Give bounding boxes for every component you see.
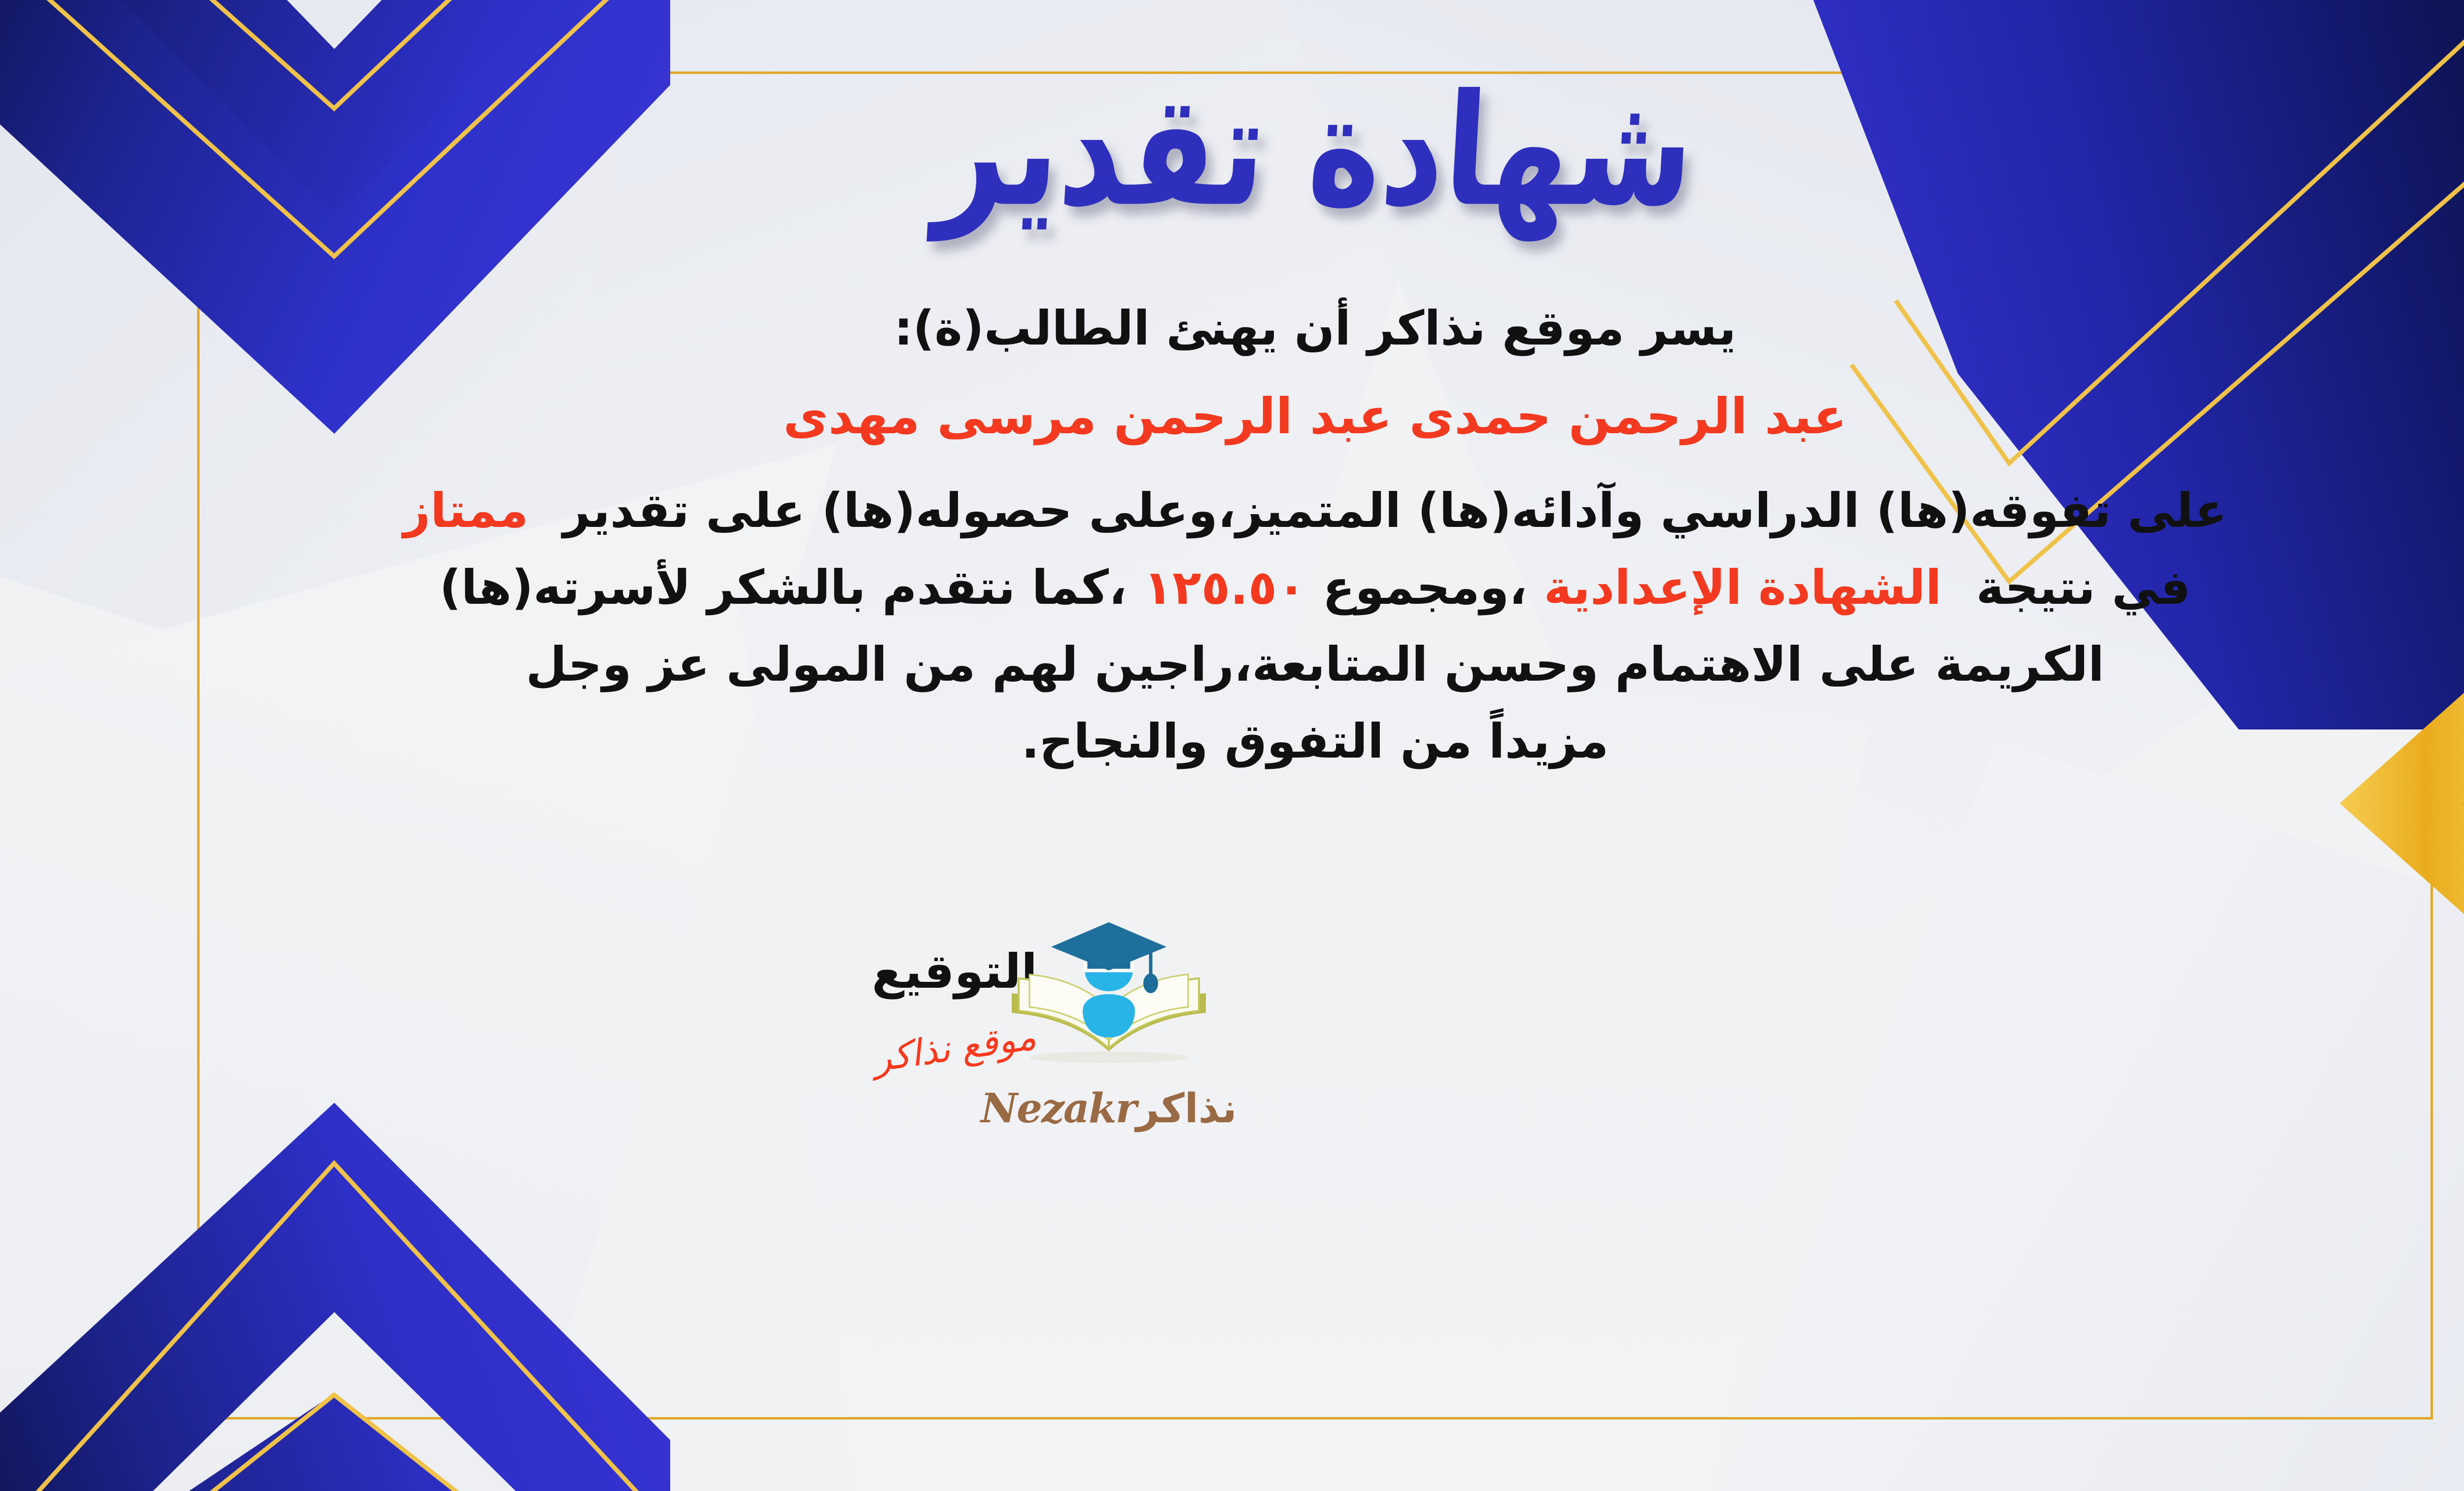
student-avatar-icon: [1083, 970, 1135, 1038]
graduation-book-icon: [993, 919, 1225, 1082]
exam-prefix: في نتيجة: [1976, 560, 2190, 615]
family-thanks-line: الكريمة على الاهتمام وحسن المتابعة،راجين…: [197, 629, 2433, 699]
achievement-text: على تفوقه(ها) الدراسي وآدائه(ها) المتميز…: [563, 483, 2227, 538]
achievement-line: على تفوقه(ها) الدراسي وآدائه(ها) المتميز…: [197, 476, 2433, 546]
certificate-body: يسر موقع نذاكر أن يهنئ الطالب(ة): عبد ال…: [197, 293, 2433, 783]
brand-wordmark: نذاكرNezakr: [917, 1085, 1301, 1132]
total-score: ١٢٥.٥٠: [1143, 560, 1305, 615]
intro-line: يسر موقع نذاكر أن يهنئ الطالب(ة):: [197, 293, 2433, 363]
grade-value: ممتاز: [403, 483, 528, 538]
total-prefix: ،ومجموع: [1323, 560, 1527, 615]
exam-name: الشهادة الإعدادية: [1544, 560, 1942, 615]
exam-line: في نتيجةالشهادة الإعدادية،ومجموع١٢٥.٥٠،ك…: [197, 553, 2433, 623]
brand-name-ar: نذاكر: [1136, 1085, 1237, 1132]
brand-logo: نذاكرNezakr: [917, 919, 1301, 1132]
certificate-title: شهادة تقدير: [197, 47, 2433, 254]
certificate-canvas: شهادة تقدير يسر موقع نذاكر أن يهنئ الطال…: [0, 0, 2464, 1491]
certificate-content: شهادة تقدير يسر موقع نذاكر أن يهنئ الطال…: [197, 71, 2433, 1420]
brand-name-en: Nezakr: [981, 1085, 1136, 1132]
thanks-suffix: ،كما نتقدم بالشكر لأسرته(ها): [440, 560, 1127, 615]
closing-line: مزيداً من التفوق والنجاح.: [197, 706, 2433, 776]
student-name: عبد الرحمن حمدى عبد الرحمن مرسى مهدى: [197, 380, 2433, 453]
page-title-text: شهادة تقدير: [932, 61, 1699, 240]
